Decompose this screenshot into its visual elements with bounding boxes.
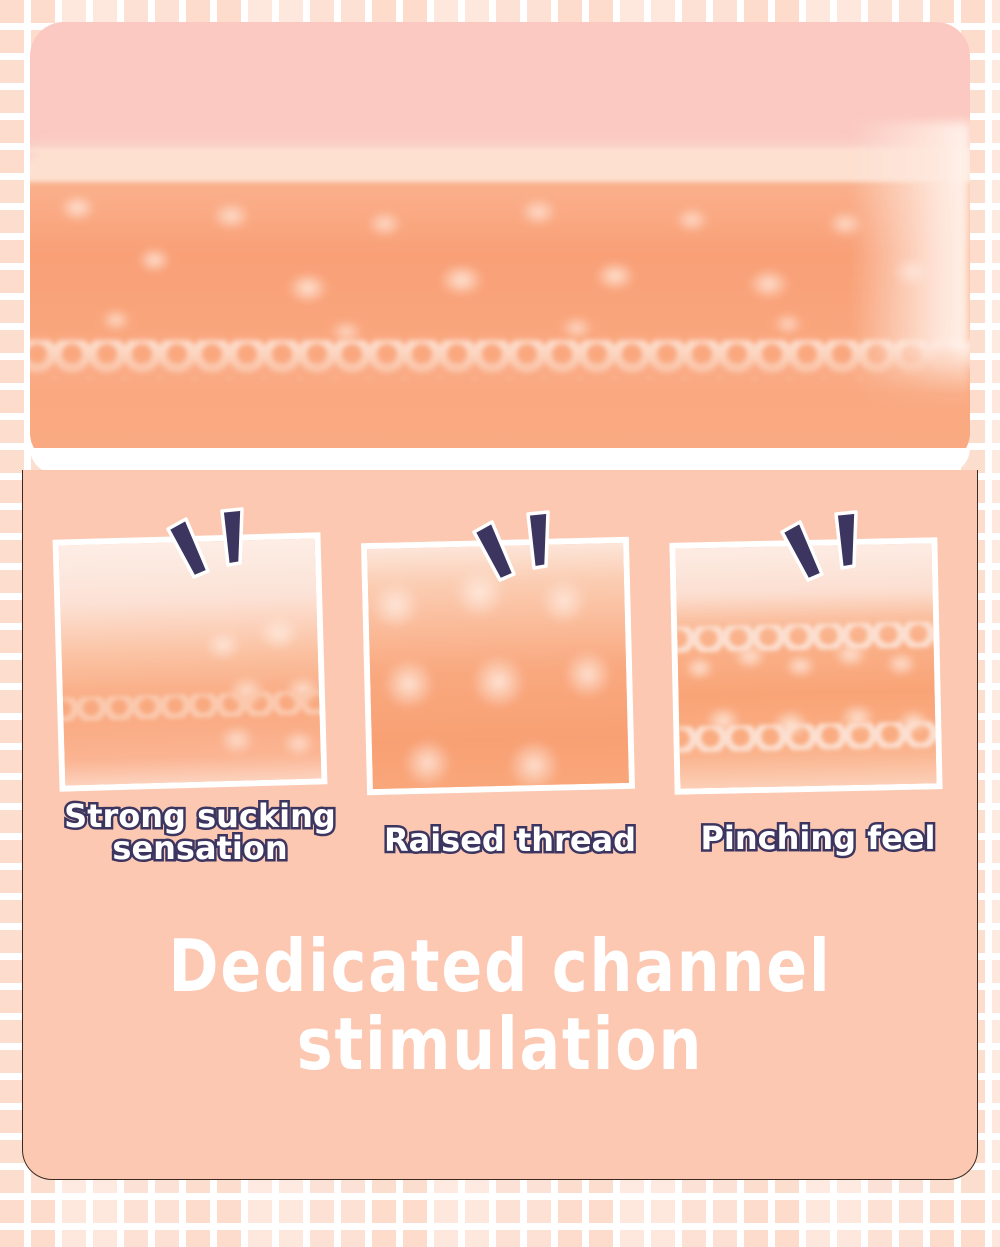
hero-wave-top-edge [30, 148, 970, 182]
feature-label-pinching-feel: Pinching feel [658, 822, 978, 854]
emphasis-marks-icon [774, 508, 894, 586]
hero-product-card [30, 22, 970, 466]
headline-text: Dedicated channel stimulation [72, 928, 928, 1084]
feature-label-strong-sucking: Strong sucking sensation [40, 800, 360, 864]
product-feature-page: Strong sucking sensation Raised thread P… [0, 0, 1000, 1247]
emphasis-marks-icon [466, 508, 586, 586]
feature-label-raised-thread: Raised thread [350, 824, 670, 856]
hero-texture-image [30, 164, 970, 364]
emphasis-marks-icon [160, 505, 280, 583]
